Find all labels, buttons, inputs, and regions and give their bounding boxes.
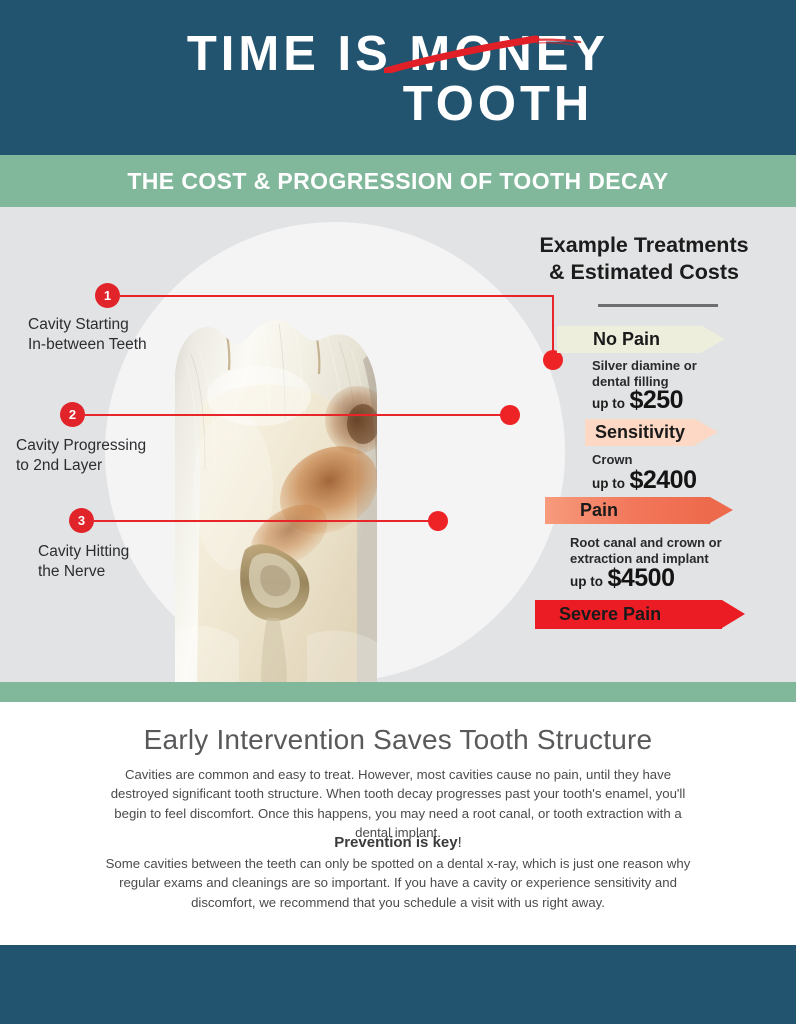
treatment-cost-pain: up to $4500 (570, 564, 674, 593)
bottom-paragraph-2: Some cavities between the teeth can only… (98, 854, 698, 912)
callout-3-label-line1: Cavity Hitting (38, 543, 129, 560)
callout-3-number: 3 (69, 508, 94, 533)
callout-3-label: Cavity Hitting the Nerve (38, 542, 218, 583)
callout-1-label: Cavity Starting In-between Teeth (28, 315, 208, 356)
bottom-emphasis-punct: ! (458, 834, 462, 851)
stage-banner-sensitivity-tip (695, 419, 718, 445)
bottom-emphasis-text: Prevention is key (334, 834, 457, 851)
header-title-line1: TIME IS MONEY (0, 30, 796, 79)
infographic-page: TIME IS MONEY TOOTH THE COST & PROGRESSI… (0, 0, 796, 1024)
callout-1-line (120, 295, 554, 297)
subtitle-band: THE COST & PROGRESSION OF TOOTH DECAY (0, 155, 796, 207)
cost-amount-no-pain: $250 (629, 386, 683, 414)
tooth-photo (167, 300, 383, 682)
stage-banner-severe-pain-tip (722, 600, 745, 628)
callout-2-dot (500, 405, 520, 425)
callout-3-line (94, 520, 444, 522)
callout-2-label-line1: Cavity Progressing (16, 437, 146, 454)
treatment-cost-sensitivity: up to $2400 (592, 466, 696, 495)
stage-label-no-pain: No Pain (557, 329, 660, 350)
callout-1-label-line2: In-between Teeth (28, 336, 147, 353)
stage-banner-pain: Pain (545, 497, 733, 524)
callout-2-label-line2: to 2nd Layer (16, 457, 102, 474)
callout-3-label-line2: the Nerve (38, 563, 105, 580)
stage-label-pain: Pain (545, 500, 618, 521)
treatment-desc-sensitivity-line1: Crown (592, 452, 632, 467)
subtitle-text: THE COST & PROGRESSION OF TOOTH DECAY (127, 168, 668, 195)
callout-1-dot (543, 350, 563, 370)
footer-bar (0, 945, 796, 1024)
cost-prefix-sensitivity: up to (592, 476, 625, 491)
treatment-cost-no-pain: up to $250 (592, 386, 683, 415)
bottom-title: Early Intervention Saves Tooth Structure (0, 724, 796, 756)
stage-banner-no-pain: No Pain (557, 326, 725, 353)
stage-label-sensitivity: Sensitivity (585, 422, 685, 443)
treatments-divider (598, 304, 718, 307)
cost-amount-sensitivity: $2400 (629, 466, 696, 494)
cost-prefix-pain: up to (570, 574, 603, 589)
treatment-desc-no-pain-line1: Silver diamine or (592, 358, 697, 373)
callout-2-line (85, 414, 513, 416)
bottom-section: Early Intervention Saves Tooth Structure… (0, 702, 796, 945)
treatments-title-line2: & Estimated Costs (549, 260, 739, 284)
treatments-title: Example Treatments & Estimated Costs (500, 232, 788, 286)
treatment-desc-pain: Root canal and crown or extraction and i… (570, 535, 770, 568)
stage-banner-severe-pain: Severe Pain (535, 600, 745, 629)
treatments-title-line1: Example Treatments (539, 233, 748, 257)
stage-label-severe-pain: Severe Pain (535, 604, 661, 625)
stage-banner-pain-tip (710, 497, 733, 523)
header-banner: TIME IS MONEY TOOTH (0, 0, 796, 155)
stage-banner-sensitivity: Sensitivity (585, 419, 718, 446)
tooth-cross-section-icon (167, 300, 383, 682)
callout-2-number: 2 (60, 402, 85, 427)
bottom-paragraph-1: Cavities are common and easy to treat. H… (98, 765, 698, 843)
cost-amount-pain: $4500 (607, 564, 674, 592)
callout-1-label-line1: Cavity Starting (28, 316, 129, 333)
bottom-emphasis: Prevention is key! (0, 834, 796, 851)
stage-banner-no-pain-tip (702, 326, 725, 352)
callout-3-dot (428, 511, 448, 531)
callout-2-label: Cavity Progressing to 2nd Layer (16, 436, 216, 477)
callout-1-number: 1 (95, 283, 120, 308)
header-title-line2: TOOTH (0, 80, 796, 129)
green-divider-bar (0, 682, 796, 702)
treatment-desc-pain-line1: Root canal and crown or (570, 535, 722, 550)
cost-prefix-no-pain: up to (592, 396, 625, 411)
